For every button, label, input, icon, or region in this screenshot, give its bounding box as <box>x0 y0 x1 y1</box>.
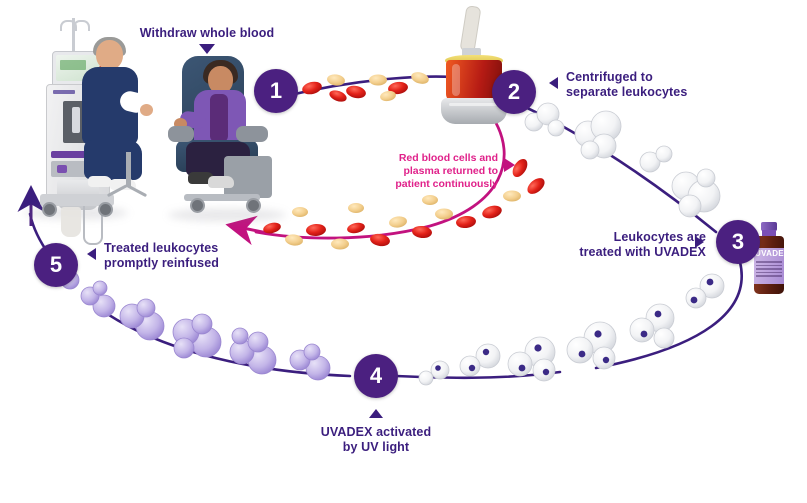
leukocyte-clusters-untreated <box>525 103 720 217</box>
clinician-hand <box>140 104 153 116</box>
return-note-line1: Red blood cells and <box>370 152 498 164</box>
step-1-label: Withdraw whole blood <box>134 26 280 40</box>
step-2-label-line2: separate leukocytes <box>566 85 687 99</box>
step-4-label-line2: by UV light <box>300 440 452 454</box>
step-4-marker-icon <box>369 409 383 418</box>
caster-wheel <box>42 202 57 217</box>
whole-blood-cells <box>301 70 430 104</box>
return-note-marker-icon <box>504 158 515 172</box>
step-2-badge[interactable]: 2 <box>492 70 536 114</box>
photopheresis-diagram: UVADEX 1 2 3 4 5 Withdraw whole blood Ce… <box>0 0 807 503</box>
step-3-marker-icon <box>695 236 704 248</box>
return-note-line2: plasma returned to <box>370 165 498 177</box>
machine-logo <box>53 90 75 94</box>
clinician-figure <box>76 40 148 212</box>
step-5-label-line2: promptly reinfused <box>104 256 219 270</box>
step-4-label-line1: UVADEX activated <box>300 425 452 439</box>
step-3-label-line2: treated with UVADEX <box>560 245 706 259</box>
vial-product-name: UVADEX <box>755 249 783 258</box>
step-3-label-line1: Leukocytes are <box>560 230 706 244</box>
leukocyte-clusters-uvadex-bound <box>419 274 724 385</box>
vial-label-text-lines <box>756 261 782 279</box>
chair-armrest <box>168 126 194 142</box>
step-1-marker-icon <box>199 44 215 54</box>
step-5-marker-icon <box>87 248 96 260</box>
leukocyte-clusters-treated <box>51 261 330 380</box>
return-note-line3: patient continuously <box>370 178 498 190</box>
step-1-badge[interactable]: 1 <box>254 69 298 113</box>
clinician-head <box>96 40 123 70</box>
step-4-badge[interactable]: 4 <box>354 354 398 398</box>
step-3-badge[interactable]: 3 <box>716 220 760 264</box>
clinician-stool <box>106 152 152 210</box>
chair-caster <box>190 198 205 213</box>
step-5-label-line1: Treated leukocytes <box>104 241 218 255</box>
iv-hook-right <box>73 20 90 31</box>
patient-shoe <box>208 176 234 188</box>
step-5-badge[interactable]: 5 <box>34 243 78 287</box>
chair-caster <box>246 198 261 213</box>
patient-shirt <box>210 94 228 142</box>
step-2-label-line1: Centrifuged to <box>566 70 653 84</box>
chair-armrest <box>236 126 268 142</box>
step-2-marker-icon <box>549 77 558 89</box>
